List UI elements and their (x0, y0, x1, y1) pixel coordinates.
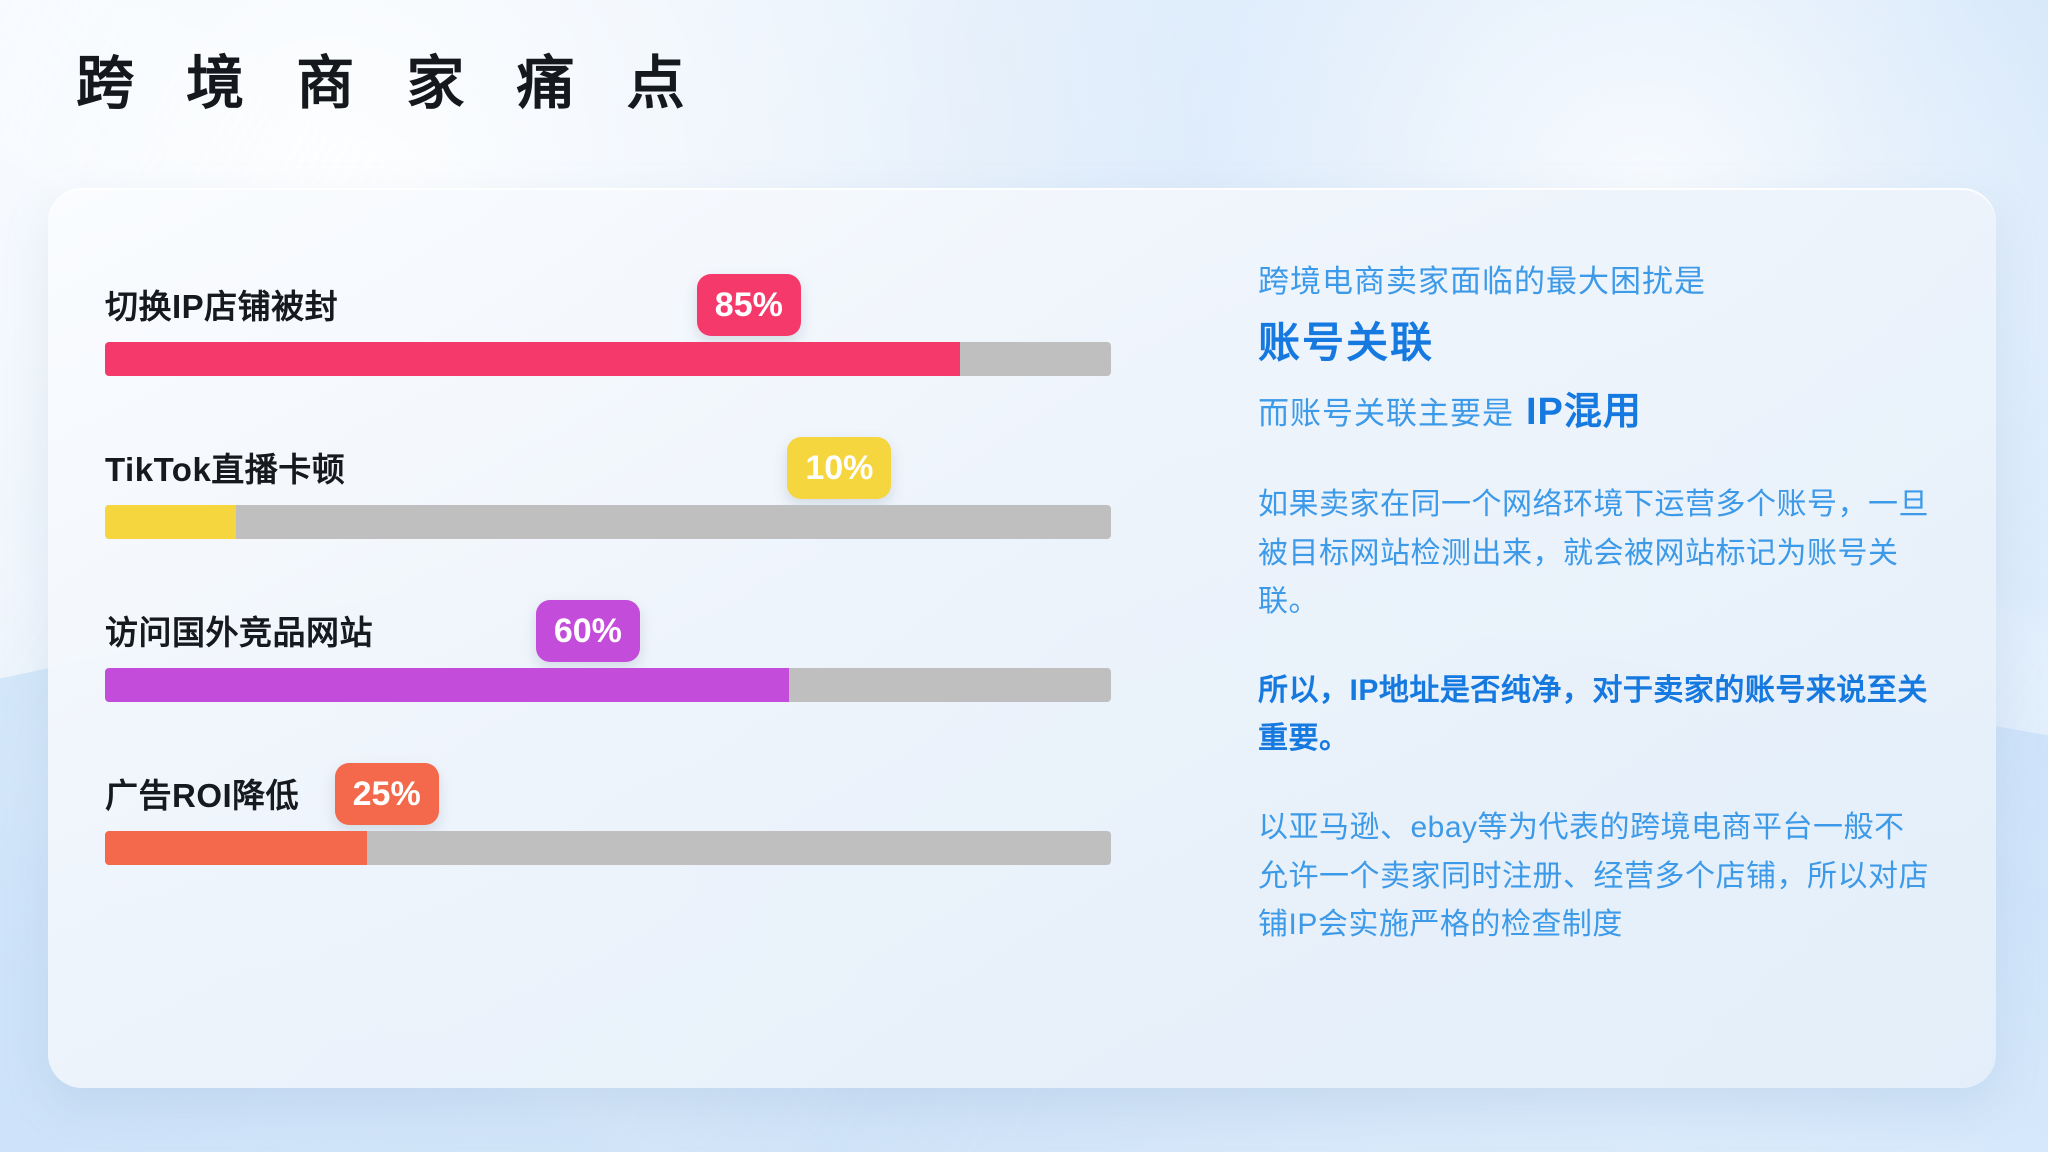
bar-fill (105, 831, 367, 865)
bar-label: 切换IP店铺被封 (105, 280, 338, 328)
paragraph-association: 如果卖家在同一个网络环境下运营多个账号，一旦被目标网站检测出来，就会被网站标记为… (1258, 481, 1934, 627)
bar-header: 广告ROI降低 25% (105, 735, 1111, 831)
bar-track (105, 505, 1111, 539)
lead-secondary-highlight: IP混用 (1526, 391, 1642, 433)
bar-value-badge: 85% (697, 274, 801, 336)
bar-list: 切换IP店铺被封 85% TikTok直播卡顿 10% (105, 246, 1111, 898)
slide-canvas: 跨 境 商 家 痛 点 切换IP店铺被封 85% TikTok直播卡顿 (0, 0, 2048, 1152)
bar-track (105, 831, 1111, 865)
lead-secondary-prefix: 而账号关联主要是 (1258, 396, 1514, 431)
bar-label: 广告ROI降低 (105, 769, 299, 817)
bar-header: 访问国外竞品网站 60% (105, 572, 1111, 668)
bar-label: 访问国外竞品网站 (105, 606, 373, 654)
lead-line: 跨境电商卖家面临的最大困扰是 (1258, 260, 1934, 305)
bar-fill (105, 505, 236, 539)
bar-row: 广告ROI降低 25% (105, 735, 1111, 898)
bar-fill (105, 668, 789, 702)
bar-track (105, 668, 1111, 702)
bar-value-badge: 10% (787, 437, 891, 499)
page-title: 跨 境 商 家 痛 点 (76, 55, 703, 113)
bar-row: 访问国外竞品网站 60% (105, 572, 1111, 735)
bar-row: TikTok直播卡顿 10% (105, 409, 1111, 572)
lead-secondary: 而账号关联主要是IP混用 (1258, 384, 1934, 441)
content-card: 切换IP店铺被封 85% TikTok直播卡顿 10% (48, 188, 1996, 1088)
bar-header: 切换IP店铺被封 85% (105, 246, 1111, 342)
bar-track (105, 342, 1111, 376)
bar-value-badge: 60% (536, 600, 640, 662)
bar-label: TikTok直播卡顿 (105, 443, 345, 491)
bar-fill (105, 342, 960, 376)
bar-row: 切换IP店铺被封 85% (105, 246, 1111, 409)
pain-point-chart: 切换IP店铺被封 85% TikTok直播卡顿 10% (48, 188, 1178, 1088)
paragraph-platform-rules: 以亚马逊、ebay等为代表的跨境电商平台一般不允许一个卖家同时注册、经营多个店铺… (1258, 804, 1934, 950)
paragraph-ip-purity: 所以，IP地址是否纯净，对于卖家的账号来说至关重要。 (1258, 667, 1934, 764)
bar-value-badge: 25% (335, 763, 439, 825)
explanation-pane: 跨境电商卖家面临的最大困扰是 账号关联 而账号关联主要是IP混用 如果卖家在同一… (1178, 188, 1996, 1088)
bar-header: TikTok直播卡顿 10% (105, 409, 1111, 505)
lead-keyword: 账号关联 (1258, 311, 1934, 374)
